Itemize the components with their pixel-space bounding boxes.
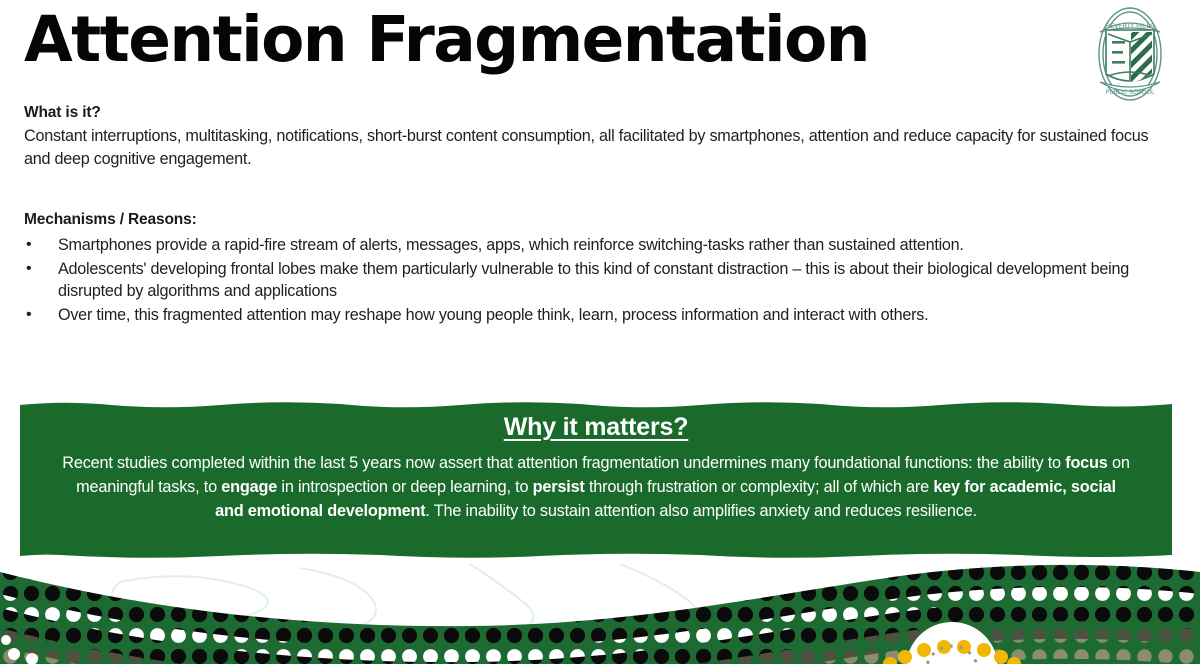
- school-crest-logo: BEVERLY HILLS PUBLIC SCHOOL: [1078, 2, 1182, 106]
- list-item: • Smartphones provide a rapid-fire strea…: [24, 234, 1184, 257]
- poster-header: Attention Fragmentation: [0, 0, 1200, 100]
- crest-top-text: BEVERLY HILLS: [1106, 22, 1155, 30]
- what-is-it-section: What is it? Constant interruptions, mult…: [24, 104, 1159, 170]
- list-item-label: Smartphones provide a rapid-fire stream …: [58, 236, 964, 254]
- why-text-5: . The inability to sustain attention als…: [425, 502, 976, 520]
- why-text-3: in introspection or deep learning, to: [277, 478, 533, 496]
- what-is-it-heading: What is it?: [24, 104, 1159, 122]
- aboriginal-dot-art-band: [0, 562, 1200, 664]
- page-title: Attention Fragmentation: [24, 8, 869, 71]
- torn-edge-bottom: [20, 552, 1172, 560]
- bullet-icon: •: [26, 258, 31, 280]
- why-it-matters-body: Recent studies completed within the last…: [36, 451, 1156, 523]
- why-it-matters-content: Why it matters? Recent studies completed…: [20, 400, 1172, 560]
- dot-art-svg: [0, 562, 1200, 664]
- poster-page: Attention Fragmentation: [0, 0, 1200, 664]
- mechanisms-list: • Smartphones provide a rapid-fire strea…: [24, 234, 1184, 327]
- why-it-matters-title: Why it matters?: [36, 413, 1156, 442]
- what-is-it-paragraph: Constant interruptions, multitasking, no…: [24, 125, 1159, 170]
- crest-bottom-text: PUBLIC SCHOOL: [1106, 89, 1155, 96]
- why-bold-focus: focus: [1065, 454, 1107, 472]
- list-item-label: Adolescents' developing frontal lobes ma…: [58, 260, 1129, 301]
- list-item-label: Over time, this fragmented attention may…: [58, 306, 928, 324]
- why-text-1: Recent studies completed within the last…: [62, 454, 1065, 472]
- mechanisms-heading: Mechanisms / Reasons:: [24, 211, 1184, 229]
- bullet-icon: •: [26, 304, 31, 326]
- bullet-icon: •: [26, 234, 31, 256]
- torn-edge-top: [20, 400, 1172, 412]
- why-text-4: through frustration or complexity; all o…: [585, 478, 934, 496]
- why-it-matters-panel: Why it matters? Recent studies completed…: [20, 400, 1172, 560]
- mechanisms-section: Mechanisms / Reasons: • Smartphones prov…: [24, 211, 1184, 328]
- why-bold-engage: engage: [221, 478, 277, 496]
- list-item: • Adolescents' developing frontal lobes …: [24, 258, 1184, 303]
- list-item: • Over time, this fragmented attention m…: [24, 304, 1184, 327]
- why-bold-persist: persist: [533, 478, 585, 496]
